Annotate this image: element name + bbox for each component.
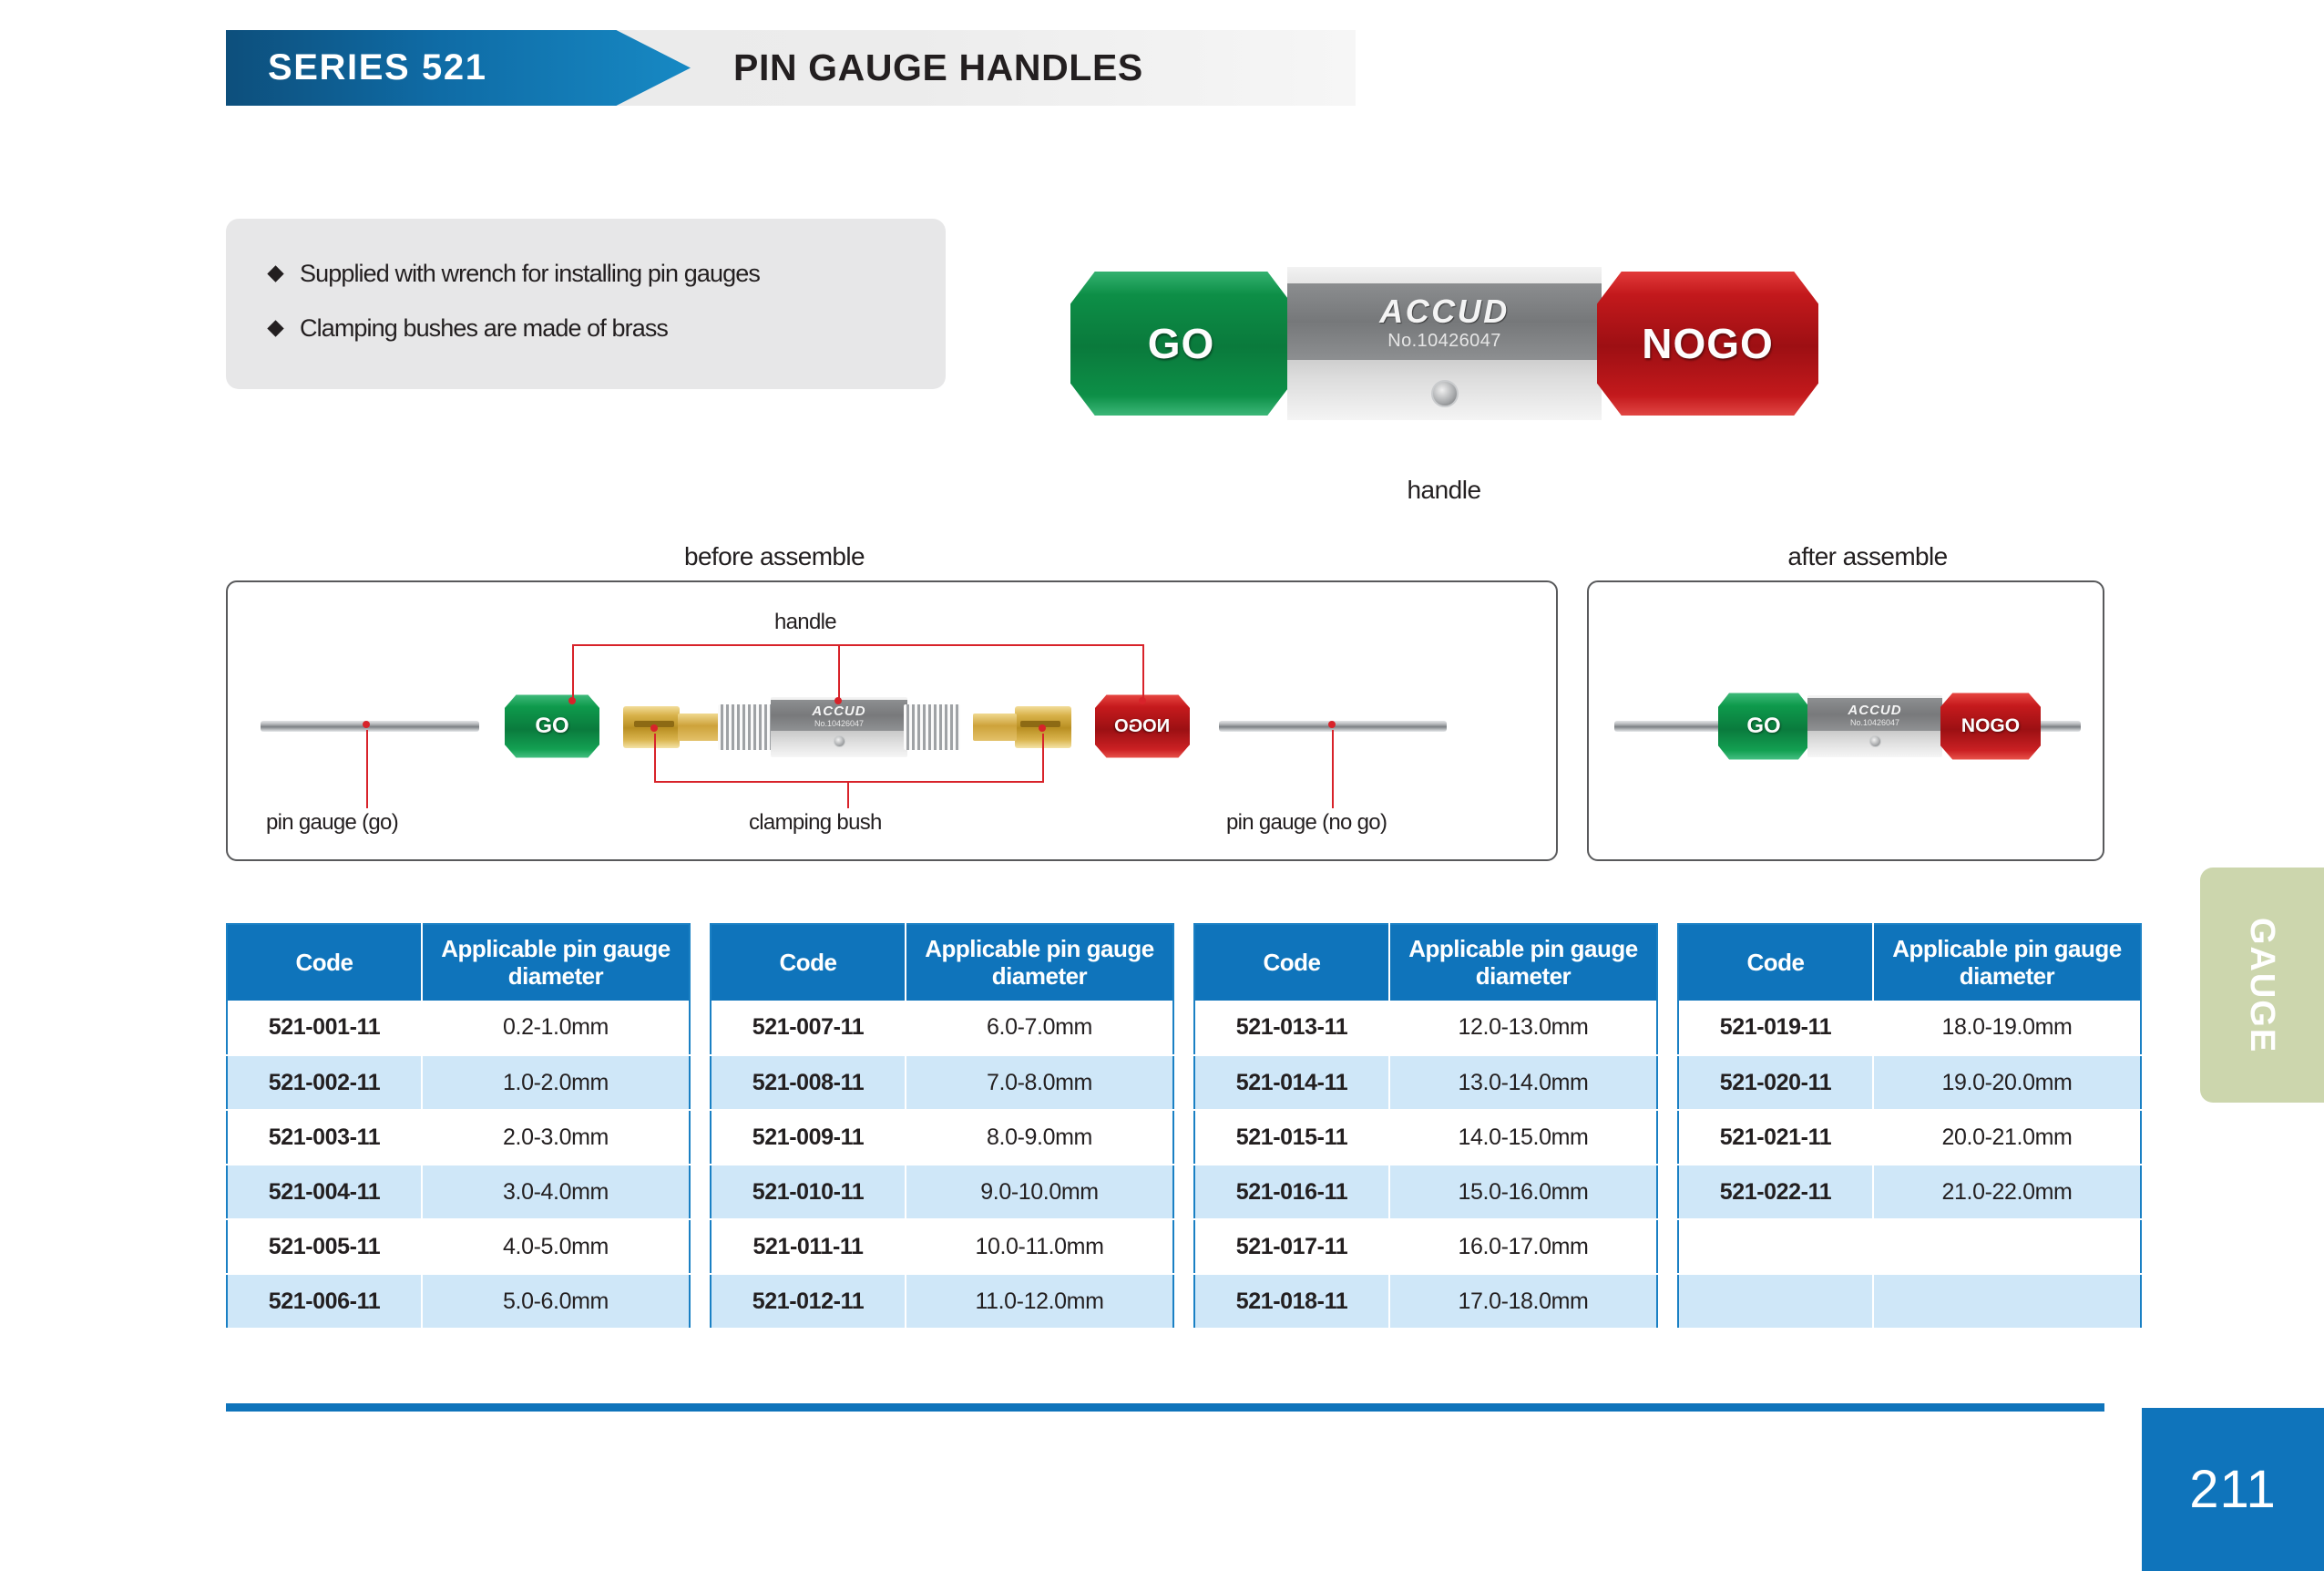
table-row[interactable]: 521-006-115.0-6.0mm (227, 1274, 690, 1329)
diagram-brand-plate: ACCUD No.10426047 (771, 700, 907, 731)
leader-dot-go-cap (568, 697, 576, 704)
handle-brand-plate: ACCUD No.10426047 (1287, 283, 1602, 360)
cell-code: 521-008-11 (711, 1055, 906, 1110)
column-header-code: Code (711, 924, 906, 1001)
leader-bush-right-stem (1042, 734, 1044, 783)
cell-code: 521-019-11 (1678, 1001, 1873, 1055)
cell-code: 521-012-11 (711, 1274, 906, 1329)
series-tag: SERIES 521 (226, 30, 691, 106)
cell-diameter: 15.0-16.0mm (1389, 1165, 1657, 1219)
page-number: 211 (2189, 1459, 2276, 1520)
leader-bush-left-stem (654, 734, 656, 783)
table-row[interactable]: 521-007-116.0-7.0mm (711, 1001, 1173, 1055)
table-header-row: Code Applicable pin gauge diameter (1194, 924, 1657, 1001)
table-row-empty[interactable] (1678, 1274, 2141, 1329)
table-header-row: Code Applicable pin gauge diameter (1678, 924, 2141, 1001)
leader-handle-body-stem (838, 644, 840, 701)
assembled-serial-label: No.10426047 (1850, 718, 1899, 727)
before-assemble-panel: GO ACCUD No.10426047 NOGO (226, 580, 1558, 861)
cell-code (1678, 1274, 1873, 1329)
table-row[interactable]: 521-018-1117.0-18.0mm (1194, 1274, 1657, 1329)
table-row[interactable]: 521-001-110.2-1.0mm (227, 1001, 690, 1055)
feature-box: Supplied with wrench for installing pin … (226, 219, 946, 389)
leader-dot-pin-nogo (1328, 721, 1336, 728)
section-tab-gauge[interactable]: GAUGE (2200, 868, 2324, 1103)
cell-code: 521-007-11 (711, 1001, 906, 1055)
cell-diameter: 8.0-9.0mm (906, 1110, 1173, 1165)
cell-diameter: 11.0-12.0mm (906, 1274, 1173, 1329)
cell-code: 521-009-11 (711, 1110, 906, 1165)
leader-dot-nogo-cap (1139, 697, 1146, 704)
leader-pin-go-stem (366, 730, 368, 808)
clamping-bush-left-neck (678, 714, 722, 741)
label-handle: handle (774, 610, 836, 635)
diagram-nogo-label: NOGO (1114, 716, 1170, 737)
assembled-go-cap: GO (1718, 692, 1809, 761)
column-header-code: Code (1194, 924, 1389, 1001)
cell-code: 521-014-11 (1194, 1055, 1389, 1110)
after-assemble-panel: GO ACCUD No.10426047 NOGO (1587, 580, 2104, 861)
spec-table-1: Code Applicable pin gauge diameter 521-0… (226, 923, 691, 1330)
table-row[interactable]: 521-002-111.0-2.0mm (227, 1055, 690, 1110)
feature-item: Supplied with wrench for installing pin … (270, 259, 946, 288)
before-assemble-caption: before assemble (583, 542, 966, 571)
clamping-bush-right-neck (973, 714, 1017, 741)
after-assemble-caption: after assemble (1676, 542, 2059, 571)
cell-diameter: 7.0-8.0mm (906, 1055, 1173, 1110)
cell-diameter: 5.0-6.0mm (422, 1274, 690, 1329)
diagram-go-label: GO (535, 714, 568, 739)
cell-diameter: 1.0-2.0mm (422, 1055, 690, 1110)
cell-diameter: 3.0-4.0mm (422, 1165, 690, 1219)
label-pin-gauge-go: pin gauge (go) (266, 810, 398, 836)
page-title: PIN GAUGE HANDLES (733, 30, 1143, 106)
catalog-page: SERIES 521 PIN GAUGE HANDLES Supplied wi… (0, 0, 2324, 1571)
cell-code: 521-005-11 (227, 1219, 422, 1274)
cell-diameter: 6.0-7.0mm (906, 1001, 1173, 1055)
leader-handle-go-stem (572, 644, 574, 701)
table-row[interactable]: 521-005-114.0-5.0mm (227, 1219, 690, 1274)
column-header-diameter: Applicable pin gauge diameter (422, 924, 690, 1001)
feature-text: Clamping bushes are made of brass (300, 313, 668, 343)
nogo-cap-label: NOGO (1642, 319, 1774, 368)
hero-product-photo: GO ACCUD No.10426047 NOGO (1070, 258, 1817, 431)
table-row[interactable]: 521-004-113.0-4.0mm (227, 1165, 690, 1219)
cell-code: 521-013-11 (1194, 1001, 1389, 1055)
leader-bush-horizontal (654, 781, 1044, 783)
nogo-cap: NOGO (1597, 267, 1818, 420)
handle-thread-right (904, 704, 960, 750)
cell-code: 521-018-11 (1194, 1274, 1389, 1329)
table-row[interactable]: 521-009-118.0-9.0mm (711, 1110, 1173, 1165)
table-row[interactable]: 521-003-112.0-3.0mm (227, 1110, 690, 1165)
cell-code: 521-016-11 (1194, 1165, 1389, 1219)
assembled-go-label: GO (1746, 714, 1780, 739)
cell-code: 521-017-11 (1194, 1219, 1389, 1274)
cell-diameter: 13.0-14.0mm (1389, 1055, 1657, 1110)
spec-table-2: Code Applicable pin gauge diameter 521-0… (710, 923, 1174, 1330)
table-row[interactable]: 521-015-1114.0-15.0mm (1194, 1110, 1657, 1165)
cell-code: 521-022-11 (1678, 1165, 1873, 1219)
leader-pin-nogo-stem (1332, 730, 1334, 808)
cell-diameter: 14.0-15.0mm (1389, 1110, 1657, 1165)
cell-diameter: 21.0-22.0mm (1873, 1165, 2141, 1219)
go-cap-label: GO (1148, 319, 1215, 368)
set-screw-icon (1431, 380, 1459, 407)
diamond-bullet-icon (267, 321, 283, 337)
table-row[interactable]: 521-012-1111.0-12.0mm (711, 1274, 1173, 1329)
cell-code: 521-011-11 (711, 1219, 906, 1274)
table-row[interactable]: 521-008-117.0-8.0mm (711, 1055, 1173, 1110)
assembled-nogo-label: NOGO (1961, 715, 2020, 737)
diagram-set-screw-icon (834, 735, 845, 747)
go-cap: GO (1070, 267, 1292, 420)
cell-code: 521-020-11 (1678, 1055, 1873, 1110)
assembled-handle-body: ACCUD No.10426047 (1807, 695, 1942, 757)
cell-diameter: 20.0-21.0mm (1873, 1110, 2141, 1165)
leader-dot-bush-left (650, 724, 658, 732)
table-row[interactable]: 521-022-1121.0-22.0mm (1678, 1165, 2141, 1219)
cell-code: 521-001-11 (227, 1001, 422, 1055)
diagram-brand-label: ACCUD (812, 703, 865, 719)
page-number-badge: 211 (2142, 1408, 2324, 1571)
table-header-row: Code Applicable pin gauge diameter (227, 924, 690, 1001)
table-row[interactable]: 521-017-1116.0-17.0mm (1194, 1219, 1657, 1274)
table-row[interactable]: 521-020-1119.0-20.0mm (1678, 1055, 2141, 1110)
diamond-bullet-icon (267, 265, 283, 282)
diagram-go-cap: GO (505, 693, 599, 759)
table-row[interactable]: 521-011-1110.0-11.0mm (711, 1219, 1173, 1274)
leader-dot-handle-body (834, 697, 842, 704)
leader-dot-pin-go (363, 721, 370, 728)
table-row[interactable]: 521-016-1115.0-16.0mm (1194, 1165, 1657, 1219)
cell-diameter: 18.0-19.0mm (1873, 1001, 2141, 1055)
cell-diameter (1873, 1219, 2141, 1274)
footer-divider (226, 1403, 2104, 1412)
diagram-handle-body: ACCUD No.10426047 (771, 697, 907, 757)
leader-bush-label-stem (847, 781, 849, 808)
section-tab-label: GAUGE (2243, 917, 2282, 1052)
label-clamping-bush: clamping bush (749, 810, 882, 836)
cell-code: 521-003-11 (227, 1110, 422, 1165)
cell-diameter: 2.0-3.0mm (422, 1110, 690, 1165)
spec-table-4: Code Applicable pin gauge diameter 521-0… (1677, 923, 2142, 1330)
leader-handle-horizontal (572, 644, 1144, 646)
cell-diameter: 12.0-13.0mm (1389, 1001, 1657, 1055)
cell-diameter: 10.0-11.0mm (906, 1219, 1173, 1274)
spec-table-3: Code Applicable pin gauge diameter 521-0… (1193, 923, 1658, 1330)
table-header-row: Code Applicable pin gauge diameter (711, 924, 1173, 1001)
pin-gauge-go-rod (261, 721, 479, 732)
handle-thread-left (718, 704, 774, 750)
assembled-set-screw-icon (1869, 735, 1881, 747)
feature-text: Supplied with wrench for installing pin … (300, 259, 760, 288)
table-row[interactable]: 521-013-1112.0-13.0mm (1194, 1001, 1657, 1055)
assembled-brand-plate: ACCUD No.10426047 (1807, 698, 1942, 731)
brand-label: ACCUD (1379, 293, 1510, 331)
cell-diameter: 4.0-5.0mm (422, 1219, 690, 1274)
leader-dot-bush-right (1039, 724, 1046, 732)
leader-handle-nogo-stem (1142, 644, 1144, 701)
handle-body: ACCUD No.10426047 (1287, 267, 1602, 420)
cell-code: 521-021-11 (1678, 1110, 1873, 1165)
cell-code: 521-010-11 (711, 1165, 906, 1219)
cell-diameter: 0.2-1.0mm (422, 1001, 690, 1055)
table-row[interactable]: 521-019-1118.0-19.0mm (1678, 1001, 2141, 1055)
serial-label: No.10426047 (1387, 331, 1501, 352)
cell-code: 521-004-11 (227, 1165, 422, 1219)
cell-code: 521-002-11 (227, 1055, 422, 1110)
assembled-nogo-cap: NOGO (1940, 692, 2041, 761)
cell-code (1678, 1219, 1873, 1274)
cell-code: 521-006-11 (227, 1274, 422, 1329)
table-row-empty[interactable] (1678, 1219, 2141, 1274)
table-row[interactable]: 521-014-1113.0-14.0mm (1194, 1055, 1657, 1110)
cell-diameter: 17.0-18.0mm (1389, 1274, 1657, 1329)
cell-diameter: 9.0-10.0mm (906, 1165, 1173, 1219)
series-label: SERIES 521 (226, 47, 487, 88)
cell-diameter: 16.0-17.0mm (1389, 1219, 1657, 1274)
feature-item: Clamping bushes are made of brass (270, 313, 946, 343)
cell-diameter: 19.0-20.0mm (1873, 1055, 2141, 1110)
diagram-serial-label: No.10426047 (814, 719, 864, 728)
table-row[interactable]: 521-010-119.0-10.0mm (711, 1165, 1173, 1219)
assembled-brand-label: ACCUD (1848, 703, 1901, 718)
cell-code: 521-015-11 (1194, 1110, 1389, 1165)
table-row[interactable]: 521-021-1120.0-21.0mm (1678, 1110, 2141, 1165)
assembled-rod-left (1614, 721, 1735, 732)
column-header-diameter: Applicable pin gauge diameter (1873, 924, 2141, 1001)
column-header-code: Code (227, 924, 422, 1001)
cell-diameter (1873, 1274, 2141, 1329)
label-pin-gauge-nogo: pin gauge (no go) (1226, 810, 1387, 836)
column-header-code: Code (1678, 924, 1873, 1001)
hero-caption: handle (1070, 476, 1817, 505)
column-header-diameter: Applicable pin gauge diameter (906, 924, 1173, 1001)
column-header-diameter: Applicable pin gauge diameter (1389, 924, 1657, 1001)
